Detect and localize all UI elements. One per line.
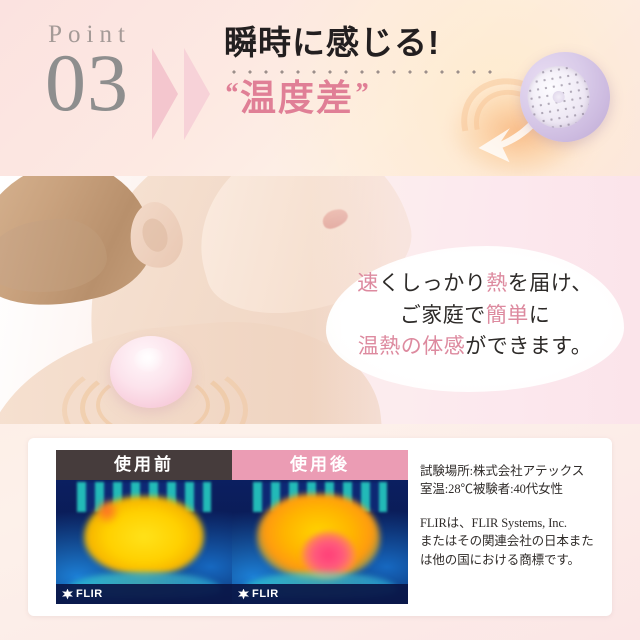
bubble-l1-d: を届け、	[508, 272, 593, 295]
test-location-line: 試験場所:株式会社アテックス	[420, 462, 600, 480]
bubble-line-3: 温熱の体感ができます。	[326, 331, 624, 363]
speech-bubble: 速くしっかり熱を届け、 ご家庭で簡単に 温熱の体感ができます。	[326, 246, 624, 392]
trademark-line-2: またはその関連会社の日本また	[420, 532, 600, 550]
flir-watermark: FLIR	[56, 584, 232, 604]
flir-watermark: FLIR	[232, 584, 408, 604]
advertisement-panel: Point 03 瞬時に感じる! “温度差”	[0, 0, 640, 640]
quote-close: ”	[354, 78, 370, 109]
bubble-l2-b: 簡単	[486, 304, 529, 327]
bubble-l3-b: ができます。	[465, 335, 592, 358]
bubble-l2-c: に	[529, 304, 551, 327]
thermal-accent-region	[95, 498, 120, 524]
test-subject-line: 室温:28℃被験者:40代女性	[420, 480, 600, 498]
bubble-l1-c: 熱	[486, 272, 508, 295]
device-on-shoulder-icon	[110, 336, 192, 408]
triangle-icon	[184, 48, 210, 140]
speech-bubble-text: 速くしっかり熱を届け、 ご家庭で簡単に 温熱の体感ができます。	[326, 268, 624, 363]
bubble-l2-a: ご家庭で	[400, 304, 486, 327]
header-band: Point 03 瞬時に感じる! “温度差”	[0, 0, 640, 176]
bubble-line-2: ご家庭で簡単に	[326, 300, 624, 332]
thermal-before-column: 使用前 FLIR	[56, 450, 232, 604]
triangle-icon	[152, 48, 178, 140]
double-triangle-right-icon	[152, 48, 222, 140]
device-center-dot	[552, 90, 566, 104]
thermal-after-column: 使用後 FLIR	[232, 450, 408, 604]
product-illustration	[452, 36, 632, 176]
point-block: Point 03	[22, 22, 152, 123]
thermal-images: 使用前 FLIR 使用後	[56, 450, 408, 604]
thermal-before-label: 使用前	[56, 450, 232, 480]
thermal-before-image: FLIR	[56, 480, 232, 604]
test-conditions-notes: 試験場所:株式会社アテックス 室温:28℃被験者:40代女性 FLIRは、FLI…	[420, 462, 600, 569]
bubble-l1-a: 速	[357, 272, 379, 295]
trademark-line-3: は他の国における商標です。	[420, 551, 600, 569]
flir-diamond-icon	[62, 589, 73, 600]
bubble-l1-b: くしっかり	[379, 272, 487, 295]
point-number: 03	[22, 43, 152, 123]
thermal-after-label: 使用後	[232, 450, 408, 480]
trademark-line-1: FLIRは、FLIR Systems, Inc.	[420, 514, 600, 532]
thermal-after-image: FLIR	[232, 480, 408, 604]
flir-label: FLIR	[252, 588, 279, 600]
thermal-hot-spot	[302, 532, 355, 578]
trademark-notice: FLIRは、FLIR Systems, Inc. またはその関連会社の日本また …	[420, 514, 600, 568]
flir-diamond-icon	[238, 589, 249, 600]
bubble-line-1: 速くしっかり熱を届け、	[326, 268, 624, 300]
flir-label: FLIR	[76, 588, 103, 600]
headline-sub-text: 温度差	[240, 77, 354, 118]
bubble-l3-a: 温熱の体感	[358, 335, 466, 358]
quote-open: “	[224, 78, 240, 109]
device-mesh-face	[523, 61, 595, 133]
thermal-comparison-card: 使用前 FLIR 使用後	[28, 438, 612, 616]
